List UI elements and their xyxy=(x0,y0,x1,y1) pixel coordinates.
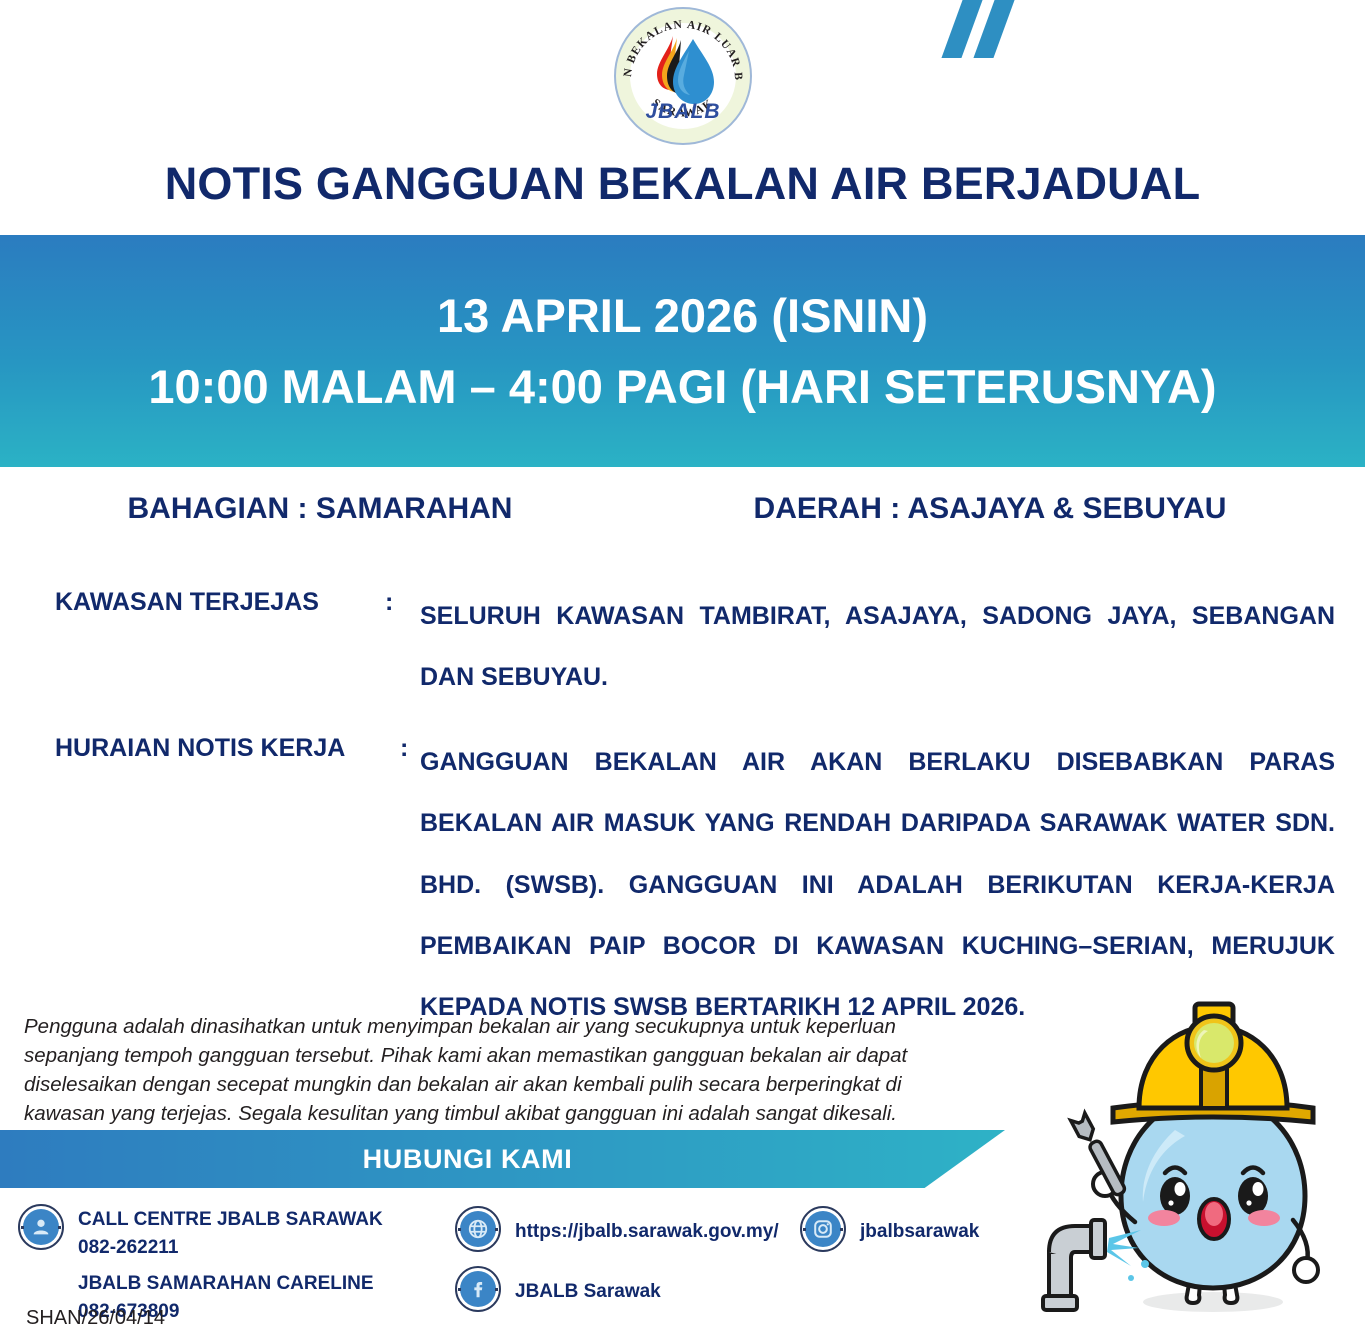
water-droplet-mascot xyxy=(1035,990,1365,1337)
banner-date-line: 13 APRIL 2026 (ISNIN) xyxy=(437,284,928,347)
contact-banner-label: HUBUNGI KAMI xyxy=(0,1130,935,1188)
contacts-section: CALL CENTRE JBALB SARAWAK 082-262211 JBA… xyxy=(0,1200,1030,1320)
facebook-icon[interactable] xyxy=(455,1266,501,1312)
website-url[interactable]: https://jbalb.sarawak.gov.my/ xyxy=(515,1206,779,1246)
contact-banner: HUBUNGI KAMI xyxy=(0,1130,1005,1188)
call-centre-name: CALL CENTRE JBALB SARAWAK xyxy=(78,1206,383,1234)
bahagian-label: BAHAGIAN : SAMARAHAN xyxy=(0,492,640,526)
logo-container: JABATAN BEKALAN AIR LUAR BANDAR SARAWAK … xyxy=(0,6,1365,146)
careline-name: JBALB SAMARAHAN CARELINE xyxy=(78,1270,383,1298)
work-description-colon: : xyxy=(400,732,420,1038)
person-icon xyxy=(18,1204,64,1250)
advisory-text: Pengguna adalah dinasihatkan untuk menyi… xyxy=(24,1012,974,1128)
banner-time-line: 10:00 MALAM – 4:00 PAGI (HARI SETERUSNYA… xyxy=(148,355,1216,418)
affected-areas-colon: : xyxy=(385,586,420,709)
facebook-group[interactable]: JBALB Sarawak xyxy=(455,1266,661,1312)
reference-code: SHAN/26/04/14 xyxy=(26,1307,165,1330)
daerah-label: DAERAH : ASAJAYA & SEBUYAU xyxy=(640,492,1340,526)
page-title: NOTIS GANGGUAN BEKALAN AIR BERJADUAL xyxy=(0,158,1365,210)
call-centre-number[interactable]: 082-262211 xyxy=(78,1234,383,1262)
affected-areas-label: KAWASAN TERJEJAS xyxy=(55,586,385,709)
instagram-handle[interactable]: jbalbsarawak xyxy=(860,1206,979,1246)
website-group[interactable]: https://jbalb.sarawak.gov.my/ xyxy=(455,1206,779,1252)
facebook-handle[interactable]: JBALB Sarawak xyxy=(515,1266,661,1306)
date-banner: 13 APRIL 2026 (ISNIN) 10:00 MALAM – 4:00… xyxy=(0,235,1365,467)
affected-areas-row: KAWASAN TERJEJAS : SELURUH KAWASAN TAMBI… xyxy=(55,586,1335,709)
instagram-group[interactable]: jbalbsarawak xyxy=(800,1206,979,1252)
division-row: BAHAGIAN : SAMARAHAN DAERAH : ASAJAYA & … xyxy=(0,492,1365,526)
instagram-icon[interactable] xyxy=(800,1206,846,1252)
jbalb-logo: JABATAN BEKALAN AIR LUAR BANDAR SARAWAK … xyxy=(613,6,753,146)
affected-areas-value: SELURUH KAWASAN TAMBIRAT, ASAJAYA, SADON… xyxy=(420,586,1335,709)
work-description-label: HURAIAN NOTIS KERJA xyxy=(55,732,400,1038)
globe-icon[interactable] xyxy=(455,1206,501,1252)
svg-text:JBALB: JBALB xyxy=(645,100,720,123)
